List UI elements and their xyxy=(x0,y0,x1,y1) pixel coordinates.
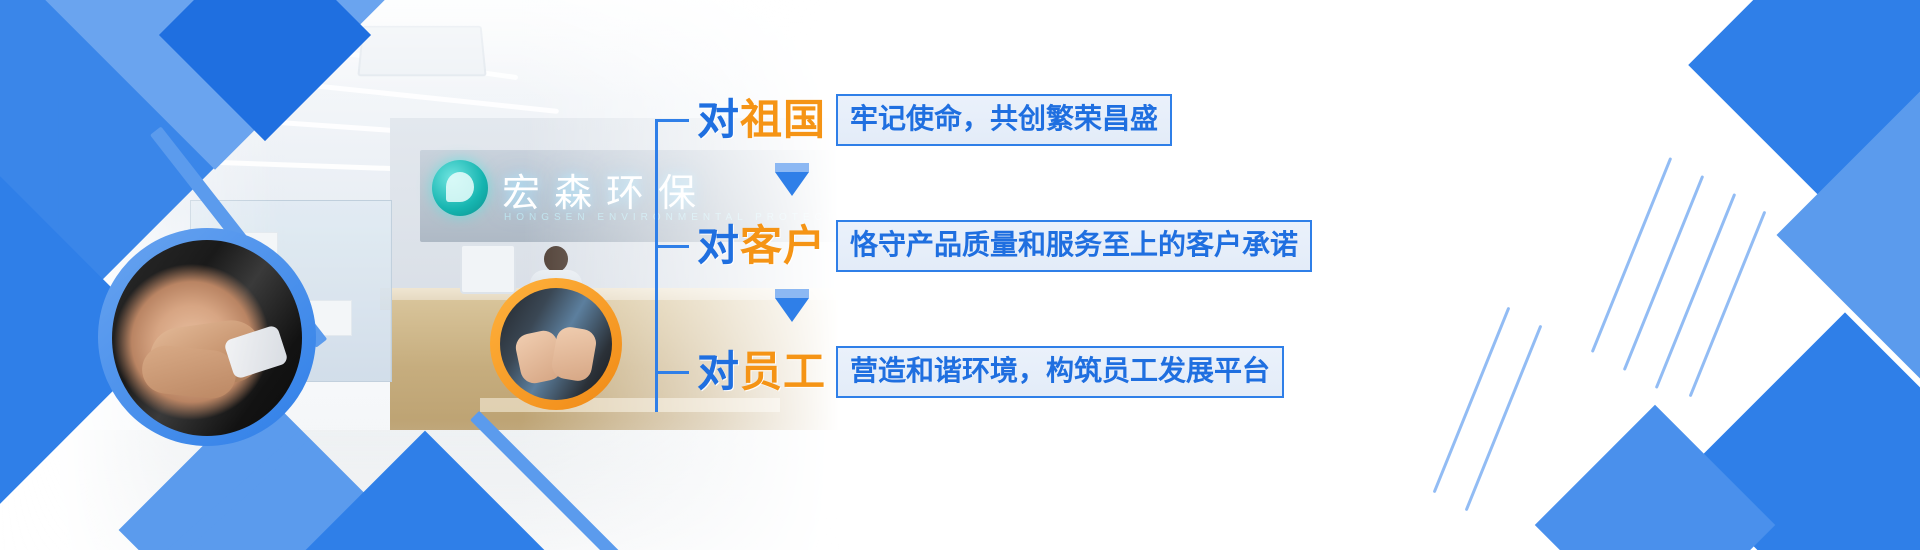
value-desc-employee: 营造和谐环境，构筑员工发展平台 xyxy=(836,346,1284,398)
value-heading-customer: 对客户 xyxy=(697,225,826,267)
arrow-down-icon-top xyxy=(775,163,809,172)
value-item-employee[interactable]: 对员工 营造和谐环境，构筑员工发展平台 xyxy=(655,344,1284,400)
value-desc-customer: 恪守产品质量和服务至上的客户承诺 xyxy=(836,220,1312,272)
value-item-customer[interactable]: 对客户 恪守产品质量和服务至上的客户承诺 xyxy=(655,218,1312,274)
value-prefix: 对 xyxy=(697,99,740,141)
applause-photo xyxy=(500,288,612,400)
value-prefix: 对 xyxy=(697,351,740,393)
decor-line xyxy=(1623,175,1704,371)
arrow-down-icon xyxy=(775,298,809,322)
value-desc-country: 牢记使命，共创繁荣昌盛 xyxy=(836,94,1172,146)
value-item-country[interactable]: 对祖国 牢记使命，共创繁荣昌盛 xyxy=(655,92,1172,148)
hand-shape xyxy=(550,325,598,383)
decor-line xyxy=(1465,325,1543,512)
connector-tick xyxy=(655,371,689,374)
decor-line xyxy=(1655,193,1736,389)
handshake-photo xyxy=(112,240,302,436)
arrow-down-icon-top xyxy=(775,289,809,298)
arrow-down-icon xyxy=(775,172,809,196)
decor-line xyxy=(1689,211,1767,398)
promo-banner: 宏森环保 HONGSEN ENVIRONMENTAL PROTECTION xyxy=(0,0,1920,550)
value-heading-employee: 对员工 xyxy=(697,351,826,393)
decor-line xyxy=(1433,307,1511,494)
value-prefix: 对 xyxy=(697,225,740,267)
value-target: 员工 xyxy=(740,351,826,393)
connector-tick xyxy=(655,245,689,248)
value-target: 客户 xyxy=(740,225,826,267)
connector-tick xyxy=(655,119,689,122)
value-target: 祖国 xyxy=(740,99,826,141)
decor-line xyxy=(1591,157,1672,353)
value-heading-country: 对祖国 xyxy=(697,99,826,141)
values-list: 对祖国 牢记使命，共创繁荣昌盛 对客户 恪守产品质量和服务至上的客户承诺 对员工… xyxy=(655,66,1355,486)
